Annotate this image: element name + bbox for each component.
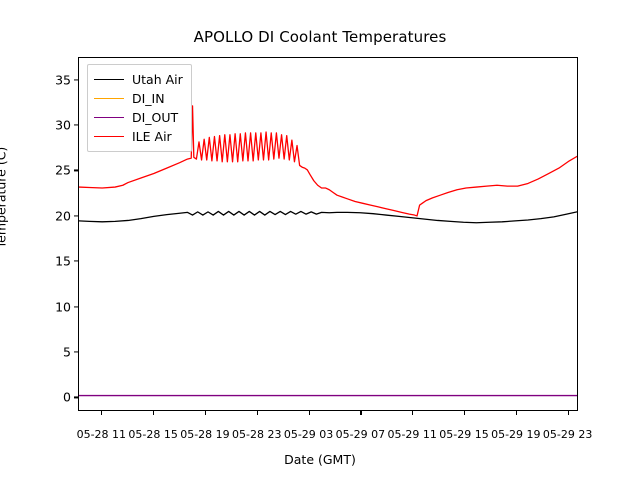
x-tick-mark [101,411,102,415]
y-tick-label: 25 [11,163,71,178]
x-tick-mark [257,411,258,415]
legend-swatch-icon [94,79,124,80]
legend-item-di-in[interactable]: DI_IN [94,89,183,108]
y-tick-label: 20 [11,208,71,223]
legend-item-ile-air[interactable]: ILE Air [94,127,183,146]
legend-label: Utah Air [132,72,183,87]
x-tick-label: 05-29 15 [439,428,488,441]
x-tick-mark [360,411,361,415]
y-tick-label: 0 [11,390,71,405]
y-tick-label: 35 [11,72,71,87]
x-tick-mark [568,411,569,415]
legend: Utah AirDI_INDI_OUTILE Air [87,64,192,152]
legend-swatch-icon [94,117,124,118]
legend-item-utah-air[interactable]: Utah Air [94,70,183,89]
x-tick-label: 05-29 23 [543,428,592,441]
x-tick-mark [412,411,413,415]
x-tick-label: 05-29 07 [336,428,385,441]
x-tick-label: 05-29 03 [284,428,333,441]
y-tick-label: 5 [11,345,71,360]
matplotlib-figure: APOLLO DI Coolant Temperatures Temperatu… [0,0,640,480]
legend-item-di-out[interactable]: DI_OUT [94,108,183,127]
legend-swatch-icon [94,136,124,137]
y-tick-label: 10 [11,299,71,314]
x-tick-mark [464,411,465,415]
x-tick-mark [309,411,310,415]
x-tick-label: 05-29 11 [387,428,436,441]
y-axis-label: Temperature (C) [0,21,9,375]
legend-label: DI_IN [132,91,165,106]
x-tick-label: 05-28 15 [128,428,177,441]
y-tick-label: 15 [11,254,71,269]
x-tick-mark [205,411,206,415]
y-tick-label: 30 [11,118,71,133]
page-title: APOLLO DI Coolant Temperatures [0,28,640,46]
legend-swatch-icon [94,98,124,99]
x-tick-label: 05-29 19 [491,428,540,441]
x-tick-mark [153,411,154,415]
legend-label: DI_OUT [132,110,178,125]
x-tick-mark [516,411,517,415]
series-line-utah-air [79,211,577,222]
x-axis-label: Date (GMT) [0,452,640,467]
legend-label: ILE Air [132,129,172,144]
x-tick-label: 05-28 19 [180,428,229,441]
x-tick-label: 05-28 11 [77,428,126,441]
x-tick-label: 05-28 23 [232,428,281,441]
